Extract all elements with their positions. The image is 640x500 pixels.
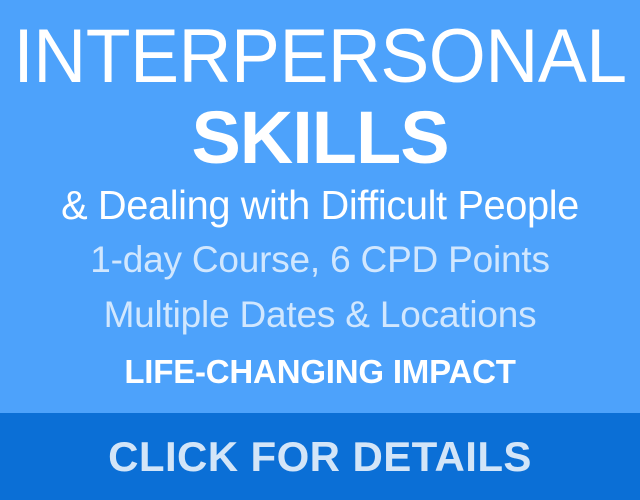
impact-tagline: LIFE-CHANGING IMPACT bbox=[0, 352, 640, 392]
advertisement-banner[interactable]: INTERPERSONAL SKILLS & Dealing with Diff… bbox=[0, 0, 640, 500]
detail-line-dates-locations: Multiple Dates & Locations bbox=[0, 293, 640, 337]
cta-button[interactable]: CLICK FOR DETAILS bbox=[0, 413, 640, 500]
headline-primary: INTERPERSONAL bbox=[11, 16, 629, 98]
headline-secondary: SKILLS bbox=[0, 98, 640, 178]
ad-content-panel: INTERPERSONAL SKILLS & Dealing with Diff… bbox=[0, 0, 640, 413]
detail-line-course-info: 1-day Course, 6 CPD Points bbox=[0, 238, 640, 282]
subheadline: & Dealing with Difficult People bbox=[10, 181, 631, 229]
cta-button-label: CLICK FOR DETAILS bbox=[108, 433, 532, 481]
